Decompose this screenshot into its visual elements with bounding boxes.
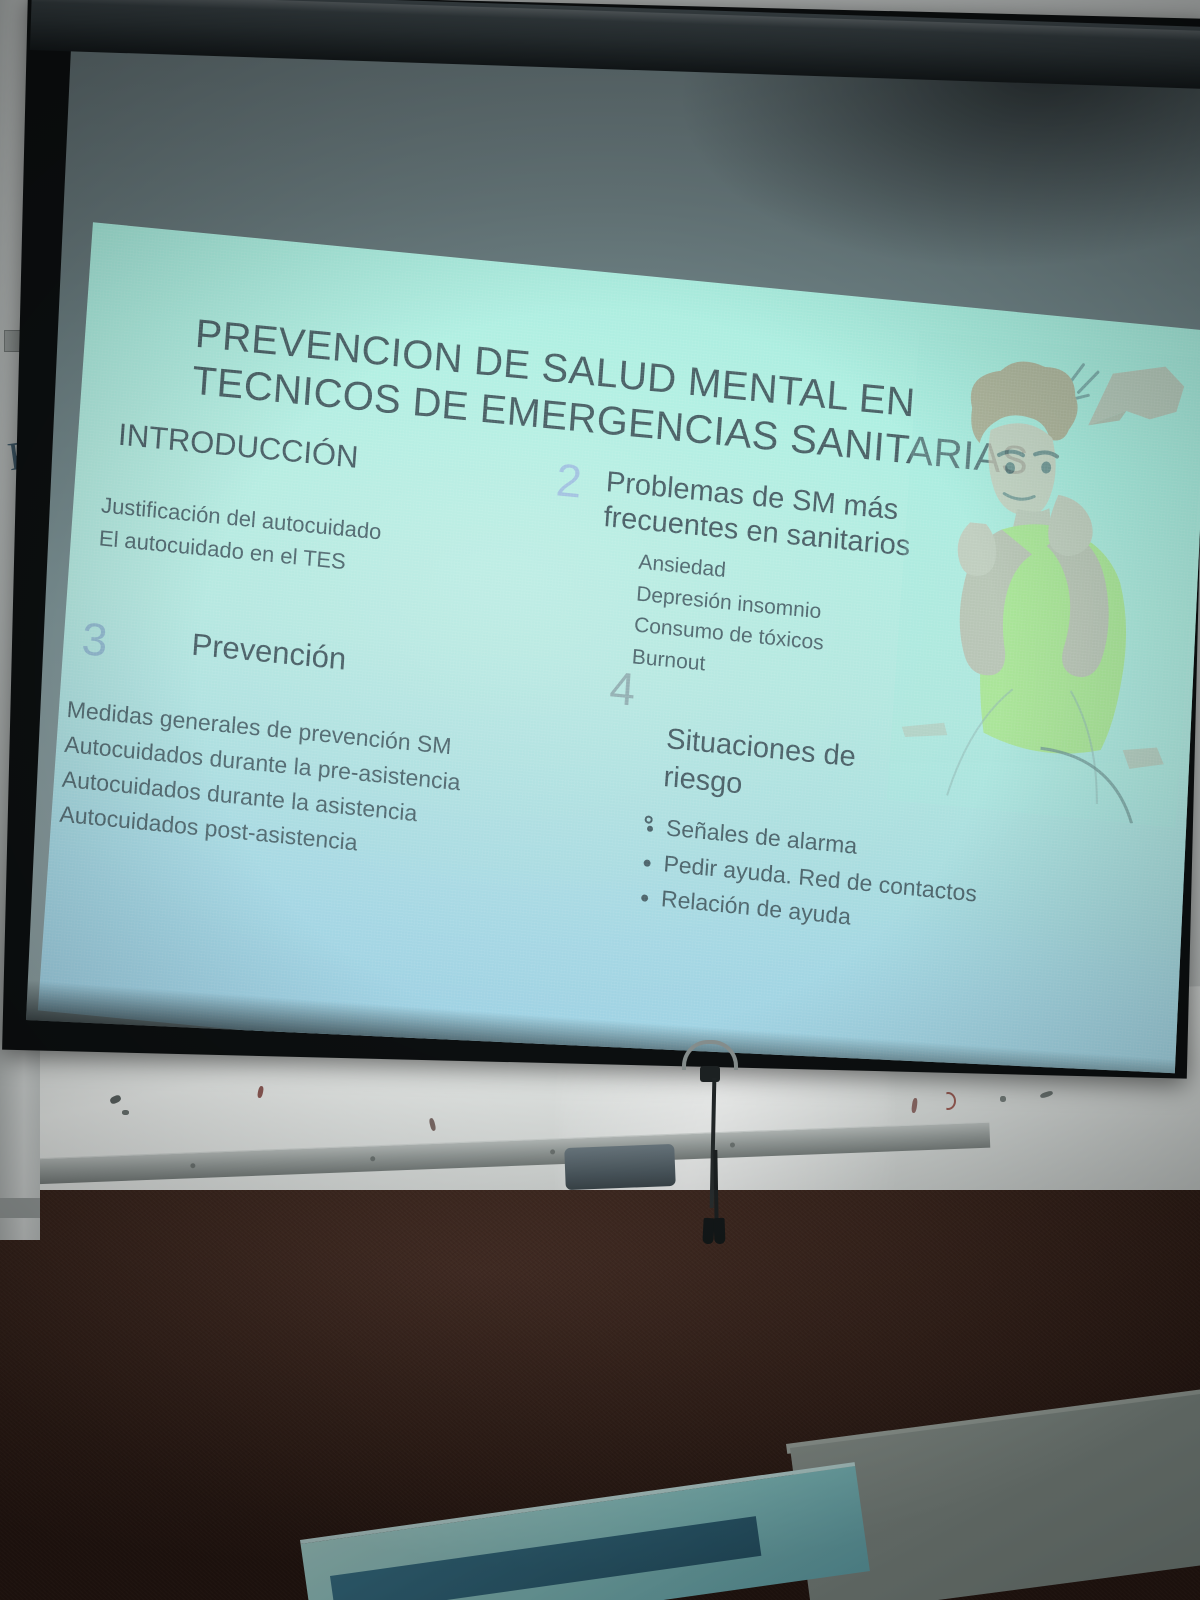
section-1-heading: INTRODUCCIÓN [117, 416, 360, 476]
section-3-list: Medidas generales de prevención SM Autoc… [58, 692, 464, 870]
section-3-number: 3 [80, 615, 109, 663]
section-2-number: 2 [555, 456, 584, 504]
whiteboard-mark [1000, 1096, 1006, 1102]
cord-tip-icon [714, 1218, 726, 1244]
stressed-person-illustration [887, 331, 1200, 828]
wall-bracket-lower [0, 1198, 40, 1218]
bullet-dot-icon [641, 895, 648, 903]
section-1-list: Justificación del autocuidado El autocui… [98, 489, 383, 581]
projected-slide-area: PREVENCION DE SALUD MENTAL EN TECNICOS D… [36, 222, 1200, 1073]
screen-handle-knot [700, 1066, 720, 1082]
bullet-dot-icon [643, 859, 650, 867]
section-2-list: Ansiedad Depresión insomnio Consumo de t… [631, 547, 829, 691]
section-4-number: 4 [608, 664, 637, 712]
section-4-bullets: Señales de alarma Pedir ayuda. Red de co… [630, 807, 981, 947]
whiteboard-mark [122, 1110, 129, 1115]
projector-screen-frame: PREVENCION DE SALUD MENTAL EN TECNICOS D… [2, 0, 1200, 1079]
whiteboard-eraser[interactable] [564, 1144, 676, 1190]
classroom-scene: F PREVENCION DE SALUD MENTAL EN TECNICOS… [0, 0, 1200, 1600]
bullet-dot-icon [644, 815, 653, 824]
presentation-slide: PREVENCION DE SALUD MENTAL EN TECNICOS D… [38, 222, 1200, 1073]
projector-screen-surface: PREVENCION DE SALUD MENTAL EN TECNICOS D… [26, 21, 1200, 1073]
section-3-heading: Prevención [190, 626, 347, 678]
